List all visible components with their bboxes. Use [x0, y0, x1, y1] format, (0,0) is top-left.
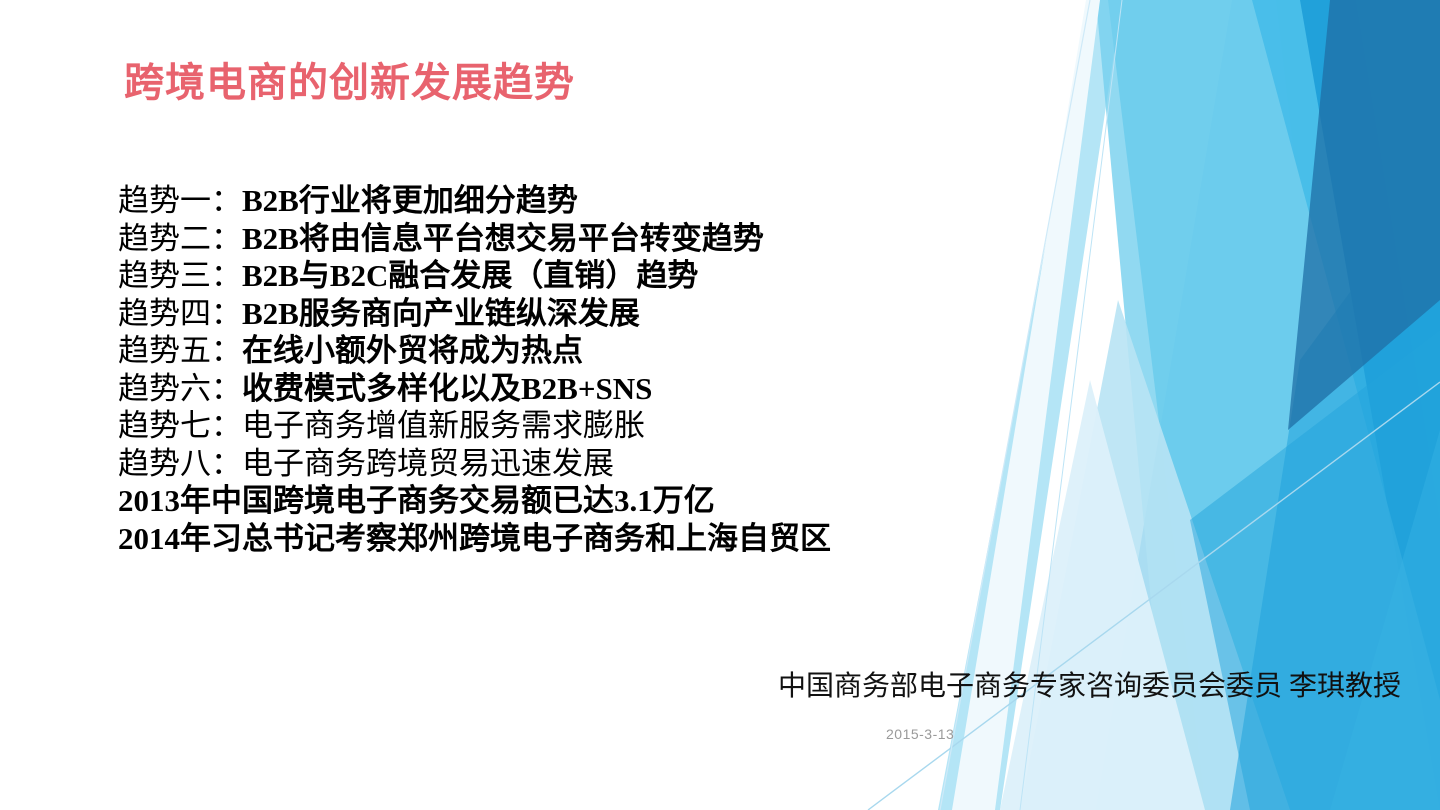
body-line: 趋势二：B2B将由信息平台想交易平台转变趋势 — [118, 220, 1078, 258]
deco-shape-bright-band — [1190, 330, 1440, 810]
body-line: 趋势八：电子商务跨境贸易迅速发展 — [118, 445, 1078, 483]
footer-author: 中国商务部电子商务专家咨询委员会委员 李琪教授 — [778, 664, 1401, 704]
trend-content: 在线小额外贸将成为热点 — [242, 333, 583, 368]
body-line: 趋势七：电子商务增值新服务需求膨胀 — [118, 407, 1078, 445]
trend-content: 电子商务增值新服务需求膨胀 — [242, 408, 645, 443]
trend-content: B2B服务商向产业链纵深发展 — [242, 296, 640, 331]
body-line: 趋势六：收费模式多样化以及B2B+SNS — [118, 370, 1078, 408]
trend-content: B2B将由信息平台想交易平台转变趋势 — [242, 221, 764, 256]
body-line: 趋势一：B2B行业将更加细分趋势 — [118, 182, 1078, 220]
deco-shape-vivid-cross — [1230, 170, 1440, 810]
slide: 跨境电商的创新发展趋势 趋势一：B2B行业将更加细分趋势 趋势二：B2B将由信息… — [0, 0, 1440, 810]
trend-content: B2B行业将更加细分趋势 — [242, 183, 578, 218]
footer-date: 2015-3-13 — [886, 726, 954, 742]
trend-prefix: 趋势八： — [118, 446, 242, 481]
body-line: 趋势四：B2B服务商向产业链纵深发展 — [118, 295, 1078, 333]
trend-prefix: 趋势七： — [118, 408, 242, 443]
slide-body: 趋势一：B2B行业将更加细分趋势 趋势二：B2B将由信息平台想交易平台转变趋势 … — [118, 182, 1078, 557]
body-line: 趋势三：B2B与B2C融合发展（直销）趋势 — [118, 257, 1078, 295]
trend-prefix: 趋势一： — [118, 183, 242, 218]
trend-prefix: 趋势六： — [118, 371, 242, 406]
slide-title: 跨境电商的创新发展趋势 — [124, 50, 575, 108]
trend-prefix: 趋势五： — [118, 333, 242, 368]
body-line-stat: 2014年习总书记考察郑州跨境电子商务和上海自贸区 — [118, 520, 1078, 558]
trend-content: 电子商务跨境贸易迅速发展 — [242, 446, 614, 481]
trend-content: B2B与B2C融合发展（直销）趋势 — [242, 258, 698, 293]
deco-shape-sky-cross — [1330, 430, 1440, 810]
trend-prefix: 趋势三： — [118, 258, 242, 293]
body-line: 趋势五：在线小额外贸将成为热点 — [118, 332, 1078, 370]
deco-shape-deep-accent — [1288, 0, 1440, 430]
trend-prefix: 趋势四： — [118, 296, 242, 331]
trend-content: 收费模式多样化以及B2B+SNS — [242, 371, 652, 406]
trend-prefix: 趋势二： — [118, 221, 242, 256]
body-line-stat: 2013年中国跨境电子商务交易额已达3.1万亿 — [118, 482, 1078, 520]
